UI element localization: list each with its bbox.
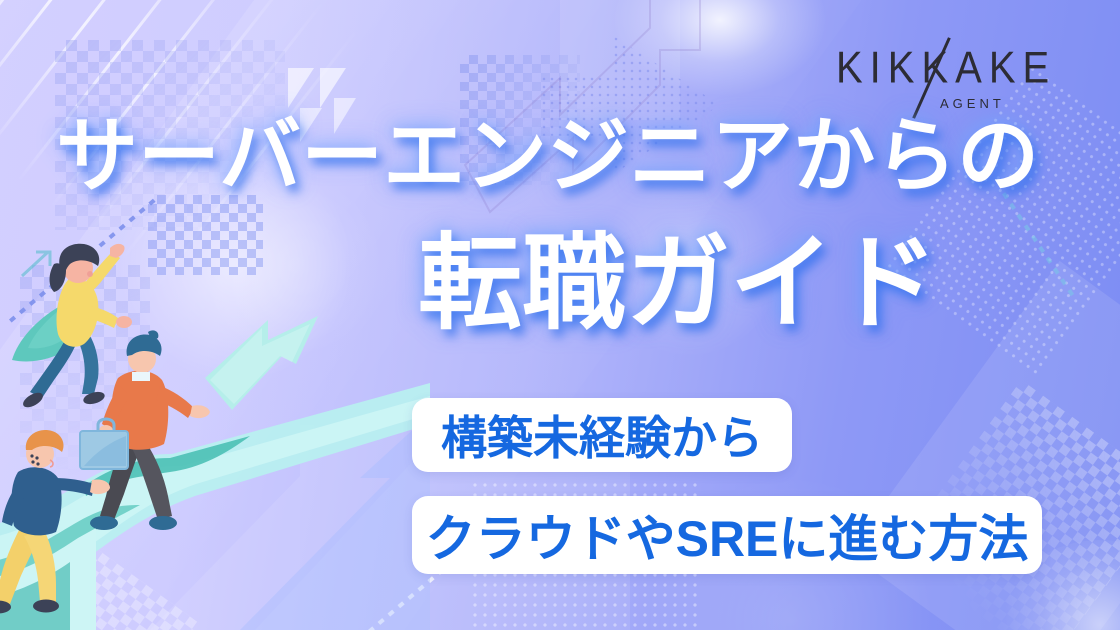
headline-line-1: サーバーエンジニアからの: [56, 116, 1039, 198]
banner-canvas: KIKKAKE AGENT サーバーエンジニアからの 転職ガイド 構築未経験から…: [0, 0, 1120, 630]
subtitle-pill-2: クラウドやSREに進む方法: [412, 496, 1042, 574]
subtitle-pill-1: 構築未経験から: [412, 398, 792, 472]
headline-block: サーバーエンジニアからの 転職ガイド: [0, 0, 1120, 360]
headline-line-2: 転職ガイド: [418, 232, 938, 336]
